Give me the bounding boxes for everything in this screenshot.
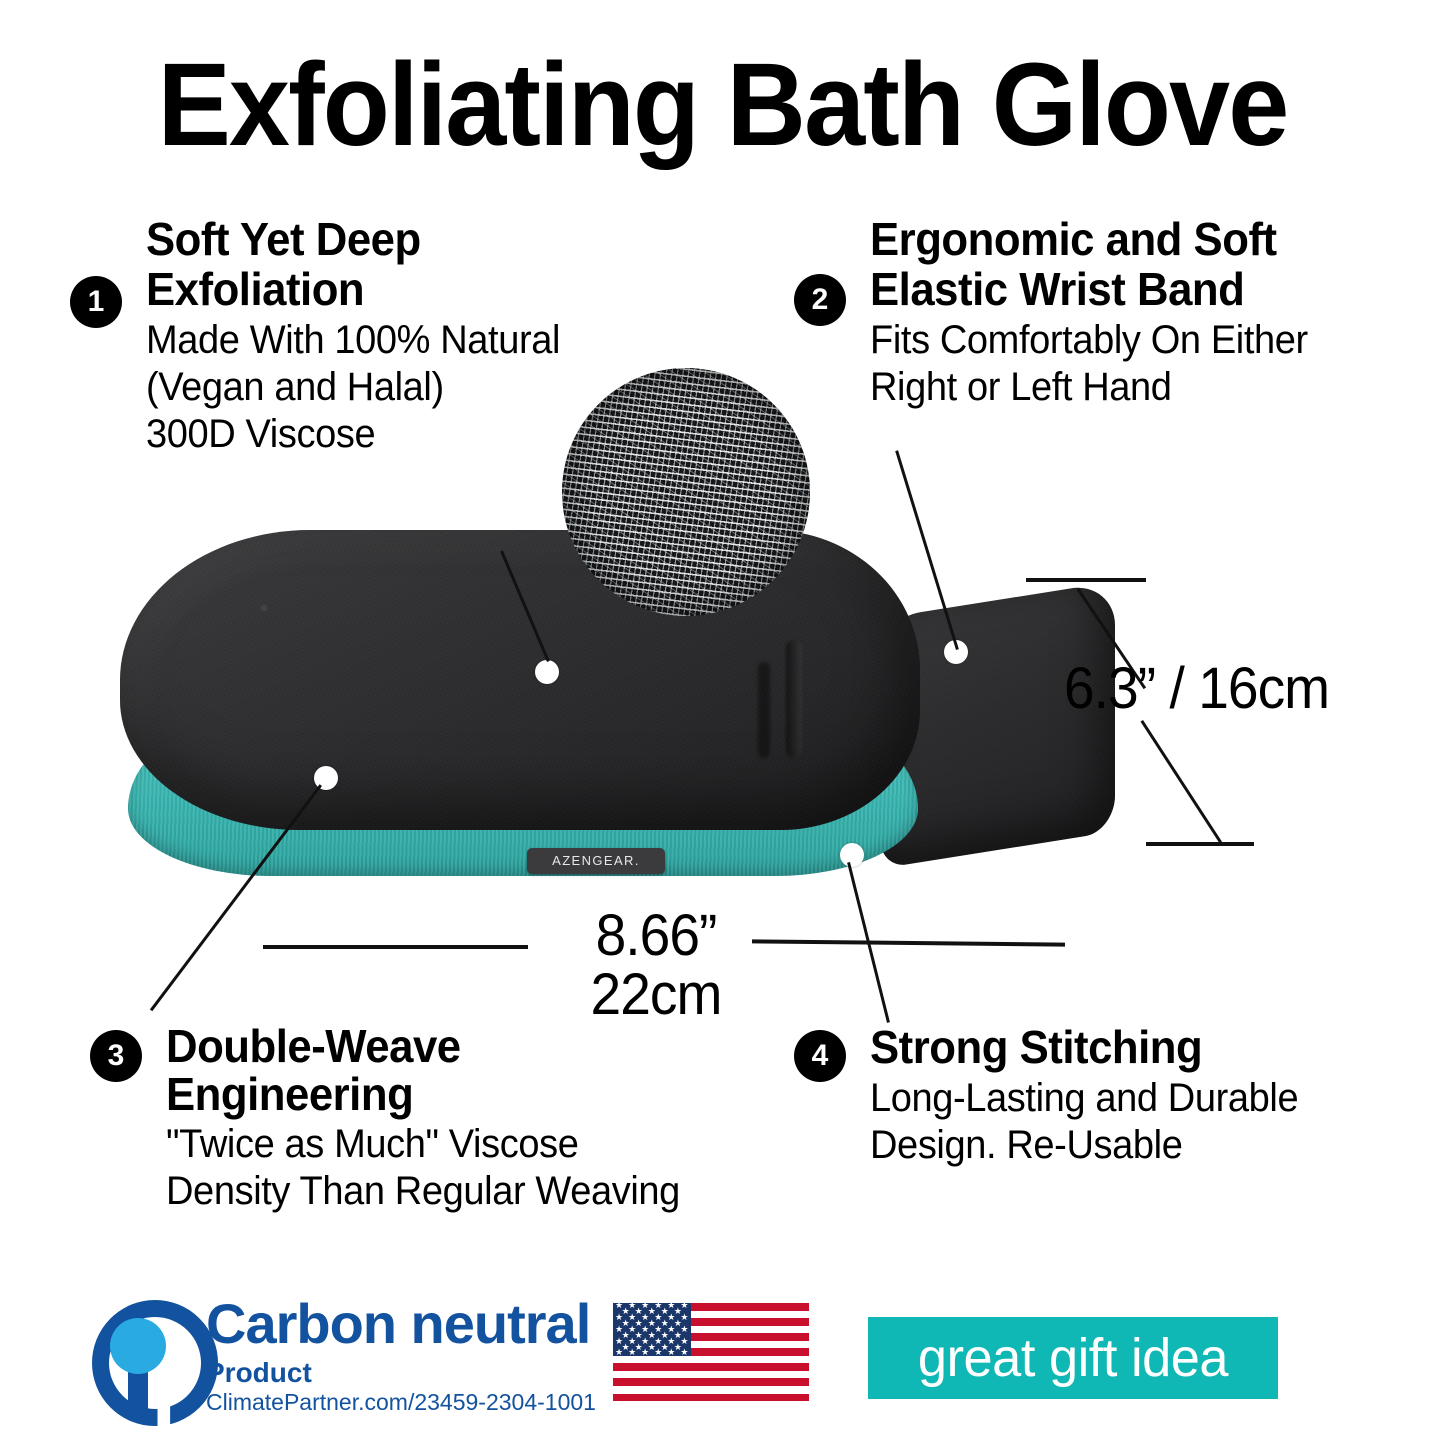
feature-sub-4-line1: Long-Lasting and Durable bbox=[870, 1075, 1402, 1122]
carbon-neutral-title: Carbon neutral bbox=[206, 1294, 590, 1354]
carbon-neutral-url: ClimatePartner.com/23459-2304-1001 bbox=[206, 1390, 596, 1415]
feature-sub-2-line2: Right or Left Hand bbox=[870, 364, 1421, 411]
feature-sub-4-line2: Design. Re-Usable bbox=[870, 1122, 1402, 1169]
feature-block-3: 3 Double-Weave Engineering "Twice as Muc… bbox=[166, 1022, 806, 1215]
feature-sub-1-line1: Made With 100% Natural bbox=[146, 317, 678, 364]
feature-heading-2-line2: Elastic Wrist Band bbox=[870, 264, 1421, 314]
callout-dot-fabric bbox=[535, 660, 559, 684]
feature-badge-2: 2 bbox=[794, 274, 846, 326]
feature-heading-4-line1: Strong Stitching bbox=[870, 1022, 1402, 1072]
dim-height-label: 6.3” / 16cm bbox=[1064, 658, 1329, 720]
feature-badge-3: 3 bbox=[90, 1030, 142, 1082]
callout-dot-stitching bbox=[840, 843, 864, 867]
dim-width-cap-right bbox=[752, 939, 1065, 946]
great-gift-idea-badge: great gift idea bbox=[868, 1317, 1278, 1399]
flag-star: ★ bbox=[667, 1348, 675, 1357]
flag-star: ★ bbox=[654, 1348, 662, 1357]
feature-badge-1: 1 bbox=[70, 276, 122, 328]
brand-label: AZENGEAR. bbox=[527, 848, 665, 874]
feature-sub-3-line2: Density Than Regular Weaving bbox=[166, 1168, 774, 1215]
thumb-crease-secondary bbox=[758, 662, 770, 758]
feature-block-2: 2 Ergonomic and Soft Elastic Wrist Band … bbox=[870, 214, 1445, 411]
inner-circle bbox=[110, 1318, 166, 1374]
feature-block-4: 4 Strong Stitching Long-Lasting and Dura… bbox=[870, 1022, 1430, 1169]
flag-star: ★ bbox=[615, 1348, 623, 1357]
dim-height-cap-bottom bbox=[1146, 842, 1254, 846]
fabric-closeup-circle bbox=[562, 368, 810, 616]
feature-heading-1-line2: Exfoliation bbox=[146, 264, 678, 314]
page-title: Exfoliating Bath Glove bbox=[51, 46, 1395, 164]
carbon-neutral-icon bbox=[88, 1298, 192, 1416]
thumb-crease bbox=[786, 640, 802, 758]
dim-width-cap-left bbox=[263, 945, 528, 949]
feature-heading-3-line2: Engineering bbox=[166, 1070, 774, 1118]
dim-width-label-line2: 22cm bbox=[577, 964, 735, 1026]
infographic-page: Exfoliating Bath Glove 1 Soft Yet Deep E… bbox=[0, 0, 1445, 1445]
feature-sub-2-line1: Fits Comfortably On Either bbox=[870, 317, 1421, 364]
flag-star: ★ bbox=[641, 1348, 649, 1357]
dim-width-label-line1: 8.66” bbox=[582, 905, 730, 967]
dim-height-cap-top bbox=[1026, 578, 1146, 582]
us-flag-icon: ★★★★★★★★★★★★★★★★★★★★★★★★★★★★★★★★★★★★★★★★… bbox=[613, 1303, 809, 1401]
carbon-neutral-logo: Carbon neutral Product ClimatePartner.co… bbox=[88, 1298, 598, 1418]
brand-label-text: AZENGEAR. bbox=[527, 848, 665, 874]
feature-sub-3-line1: "Twice as Much" Viscose bbox=[166, 1121, 774, 1168]
flag-star: ★ bbox=[680, 1348, 688, 1357]
feature-badge-4: 4 bbox=[794, 1030, 846, 1082]
flag-canton: ★★★★★★★★★★★★★★★★★★★★★★★★★★★★★★★★★★★★★★★★… bbox=[613, 1303, 691, 1356]
feature-heading-2-line1: Ergonomic and Soft bbox=[870, 214, 1421, 264]
carbon-neutral-subtitle: Product bbox=[206, 1358, 312, 1388]
great-gift-idea-label: great gift idea bbox=[874, 1317, 1272, 1399]
feature-heading-1-line1: Soft Yet Deep bbox=[146, 214, 678, 264]
feature-heading-3-line1: Double-Weave bbox=[166, 1022, 774, 1070]
flag-star: ★ bbox=[628, 1348, 636, 1357]
